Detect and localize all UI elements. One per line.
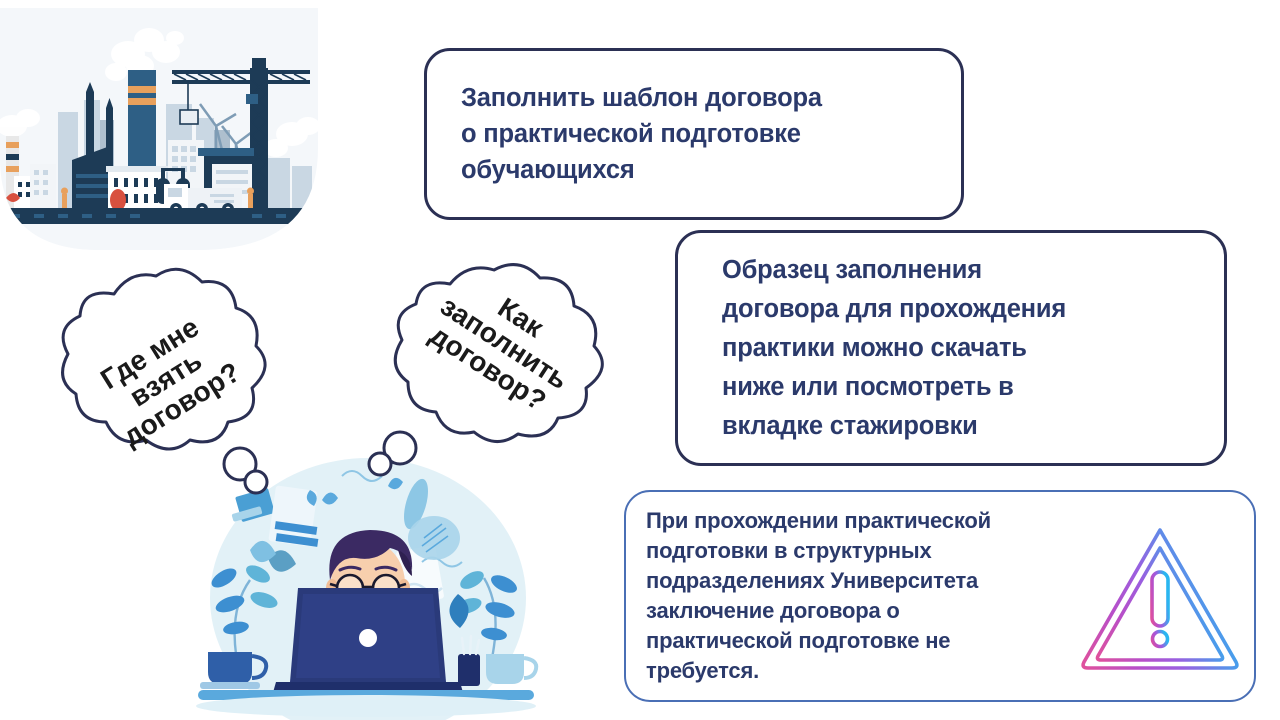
fill-template-callout: Заполнить шаблон договора о практической… — [424, 48, 964, 220]
sample-download-callout-text: Образец заполнения договора для прохожде… — [678, 251, 1066, 446]
sample-download-callout: Образец заполнения договора для прохожде… — [675, 230, 1227, 466]
where-to-get-contract-bubble: Где мне взять договор? — [28, 268, 298, 518]
slide-canvas: Где мне взять договор? Как заполнить дог… — [0, 0, 1280, 720]
fill-template-callout-text: Заполнить шаблон договора о практической… — [427, 80, 822, 188]
how-to-fill-contract-bubble: Как заполнить договор? — [358, 262, 650, 494]
no-contract-needed-callout: При прохождении практической подготовки … — [624, 490, 1256, 702]
industrial-city-illustration — [0, 8, 318, 250]
no-contract-needed-callout-text: При прохождении практической подготовки … — [626, 506, 1066, 686]
warning-triangle-icon — [1076, 516, 1244, 676]
